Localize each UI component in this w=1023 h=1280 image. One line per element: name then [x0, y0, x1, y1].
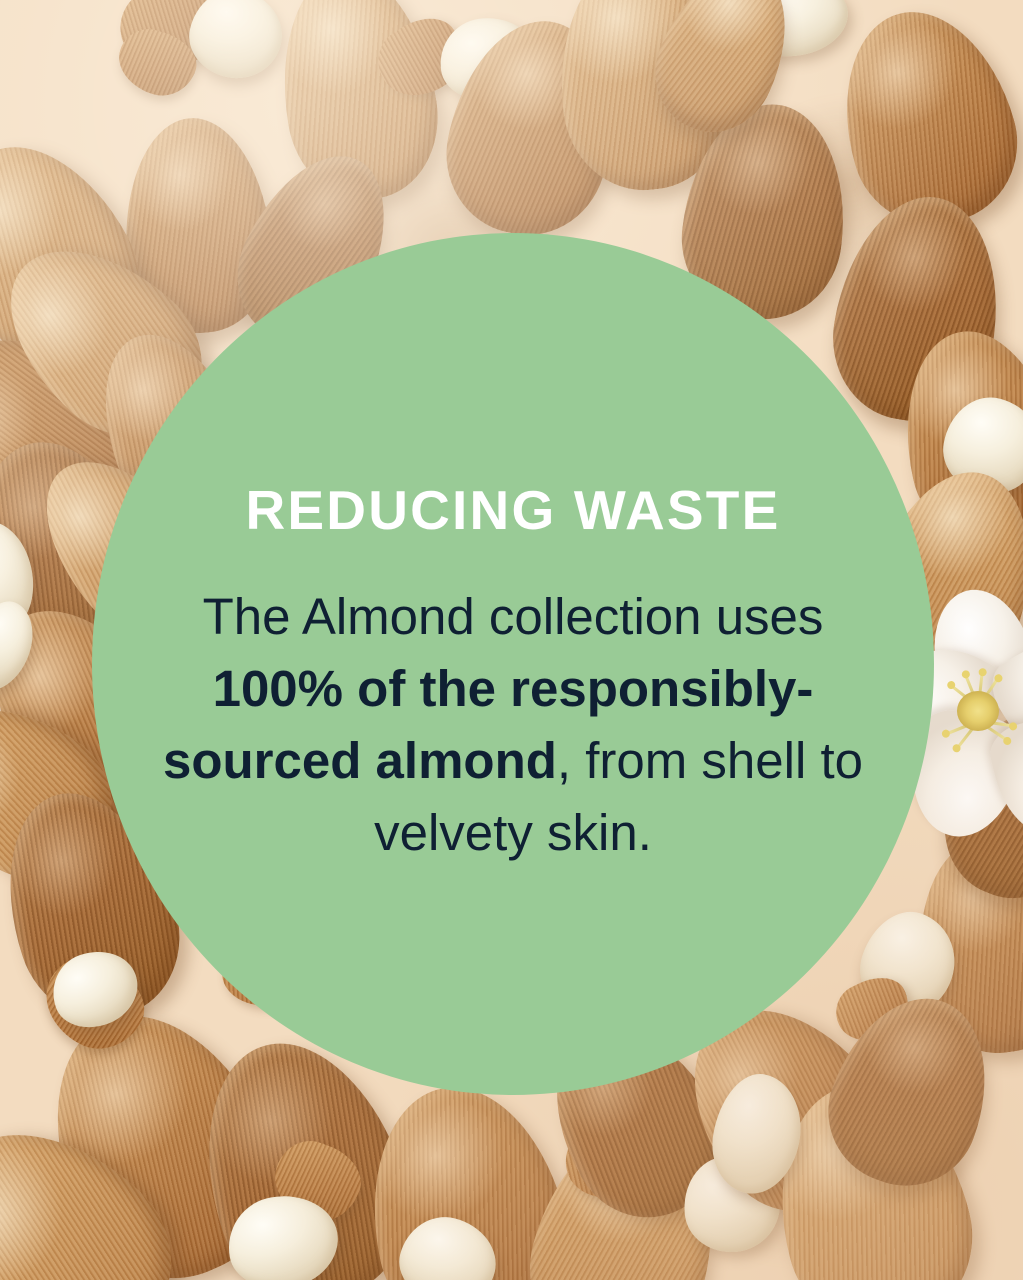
almond-kernel-piece	[182, 0, 290, 87]
promo-graphic: REDUCING WASTE The Almond collection use…	[0, 0, 1023, 1280]
callout-body: The Almond collection uses 100% of the r…	[143, 581, 883, 869]
blossom-center	[957, 691, 999, 731]
green-circle-callout: REDUCING WASTE The Almond collection use…	[92, 233, 934, 1095]
callout-body-lead: The Almond collection uses	[203, 588, 824, 645]
callout-heading: REDUCING WASTE	[246, 483, 781, 538]
